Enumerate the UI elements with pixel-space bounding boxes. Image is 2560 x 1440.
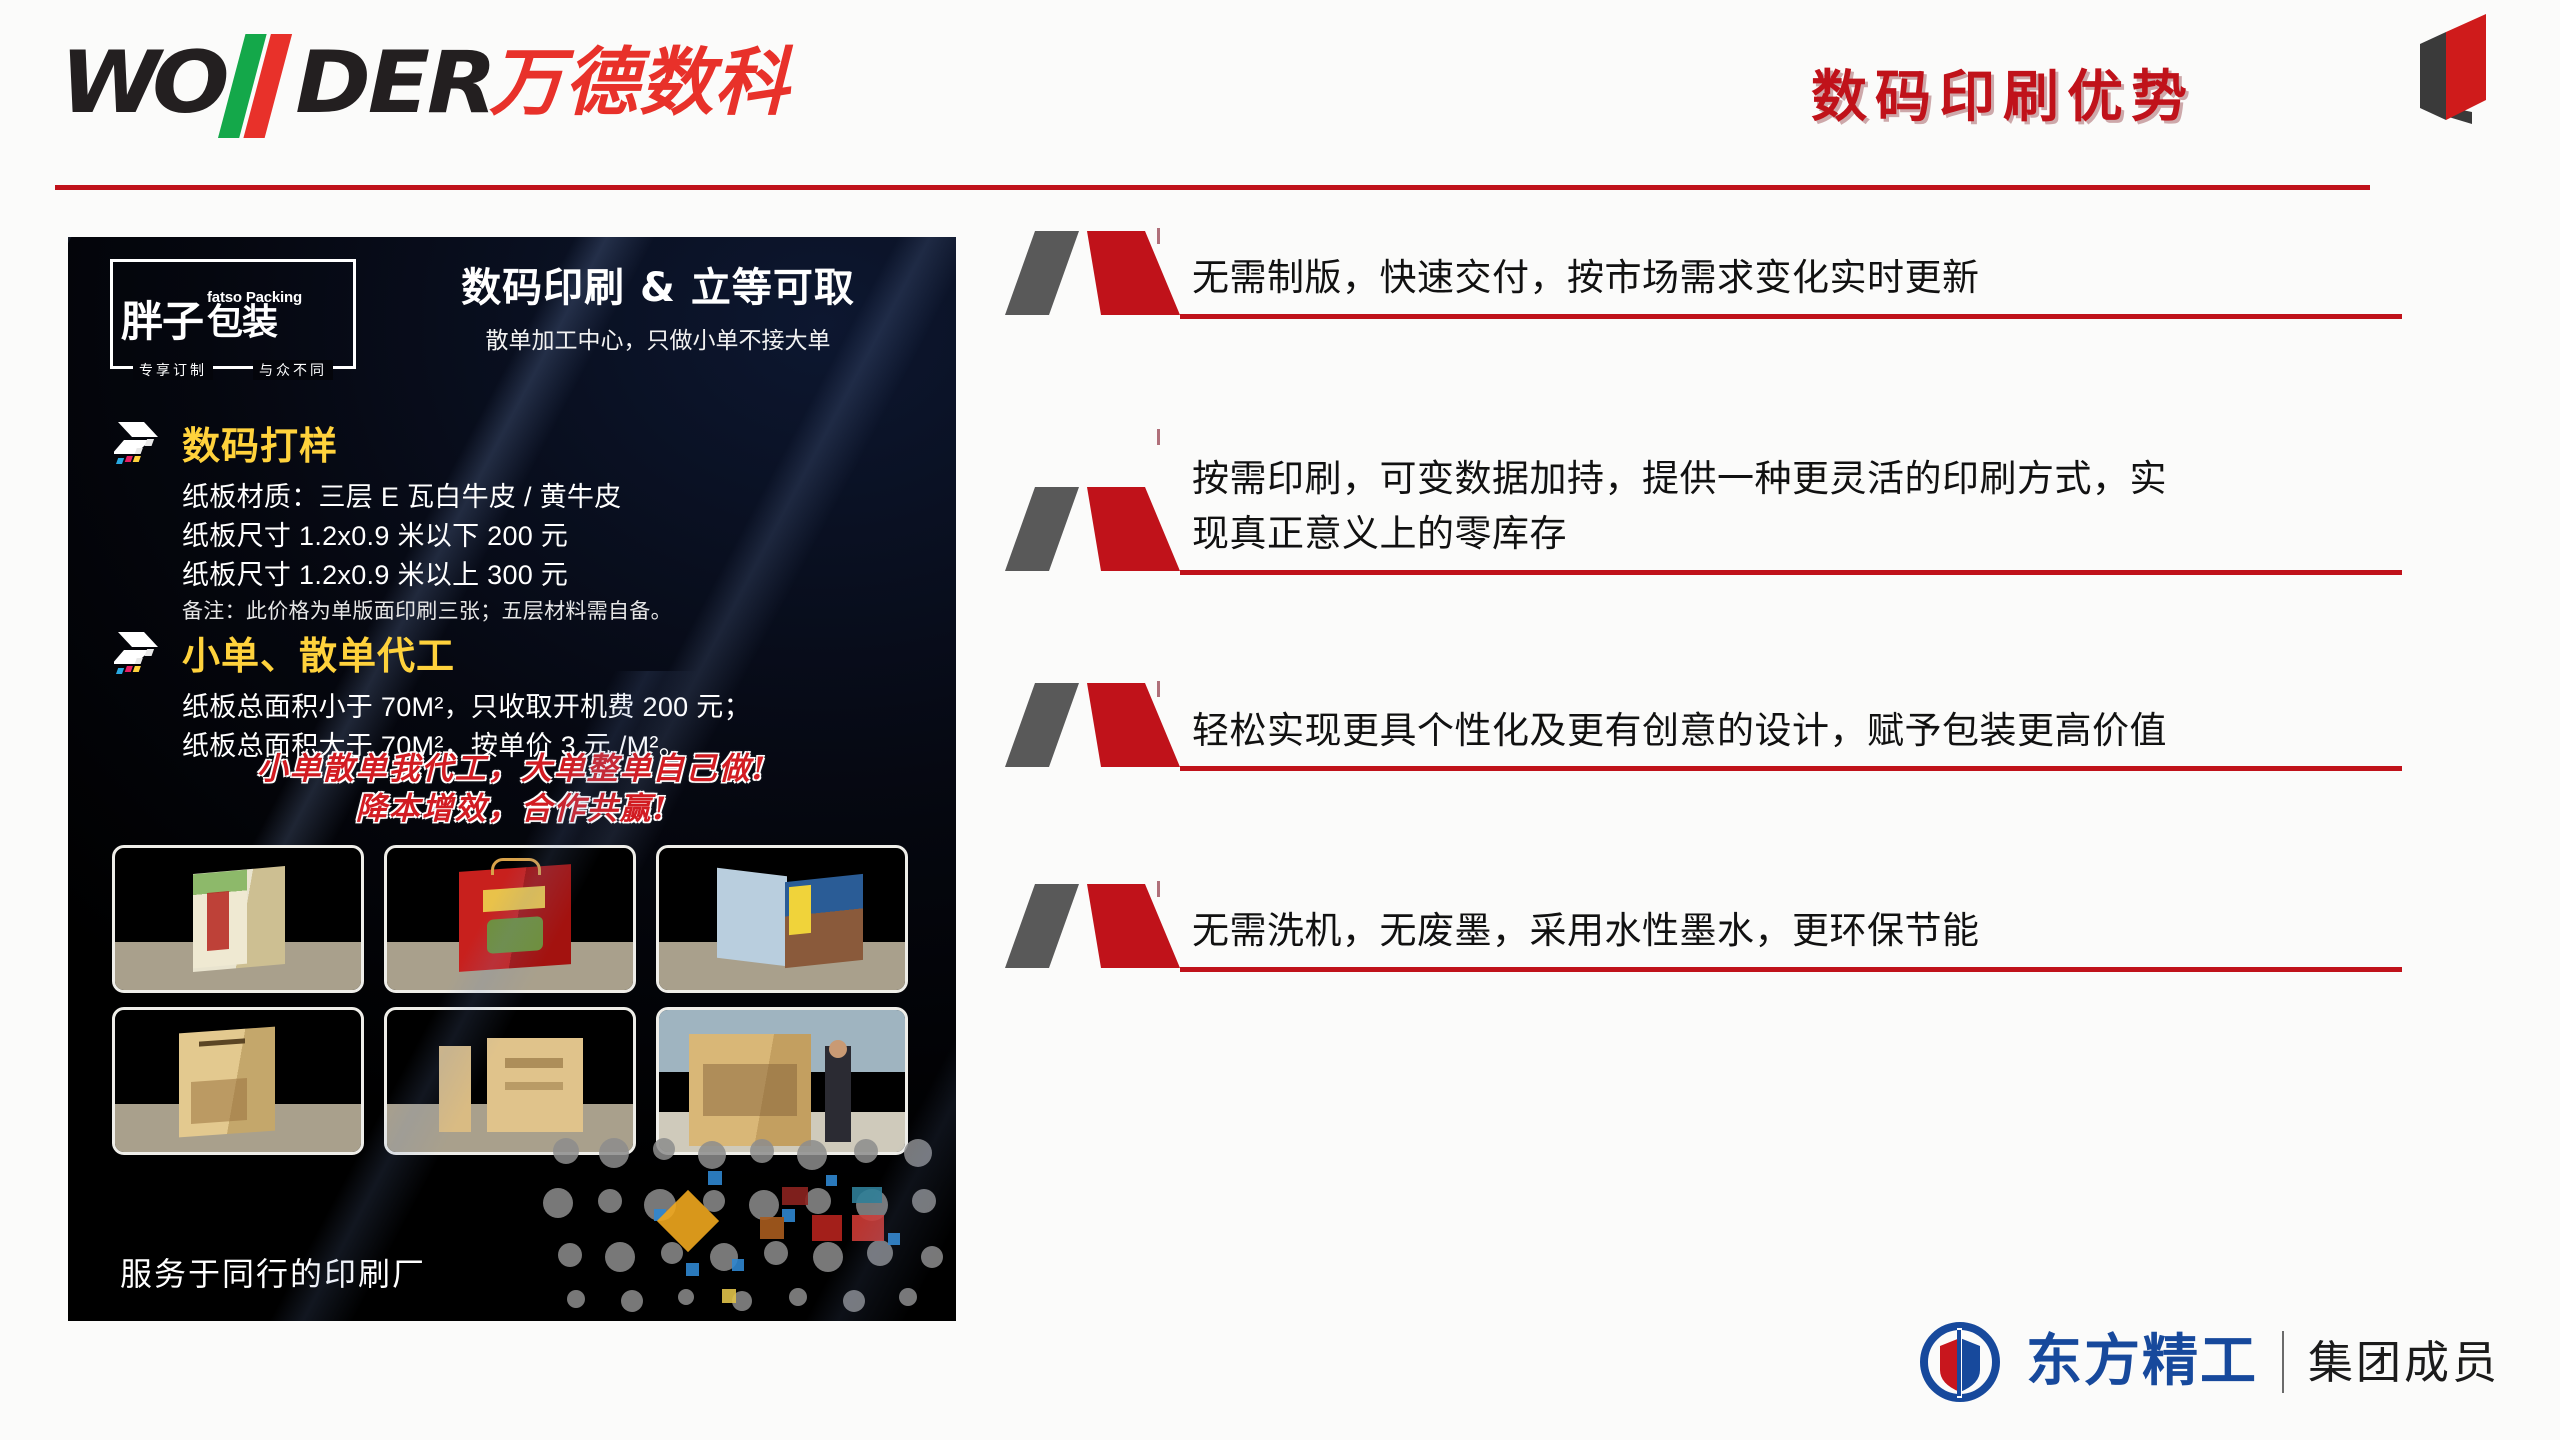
advantages-list: 无需制版，快速交付，按市场需求变化实时更新 按需印刷，可变数据加持，提供一种更灵…	[1005, 250, 2505, 972]
bullet-eco-friendly-ink: 无需洗机，无废墨，采用水性墨水，更环保节能	[1005, 903, 2505, 972]
poster-section-title: 小单、散单代工	[182, 625, 455, 680]
footer-group-logo: 东方精工 集团成员	[1918, 1320, 2500, 1404]
brand-latin-head: WO	[60, 40, 221, 126]
bullet-text: 无需洗机，无废墨，采用水性墨水，更环保节能	[1192, 903, 2505, 967]
bullet-underline	[1180, 314, 2402, 319]
footer-company-name: 东方精工	[2026, 1334, 2258, 1390]
bullet-underline	[1180, 570, 2402, 575]
poster-headline: 数码印刷 & 立等可取	[398, 265, 918, 311]
poster-logo-main: 胖子	[121, 303, 203, 342]
poster-footer-text: 服务于同行的印刷厂	[120, 1249, 426, 1295]
double-slash-marker-icon	[1005, 231, 1180, 319]
poster-section-title: 数码打样	[182, 415, 338, 470]
poster-gallery	[112, 845, 912, 1155]
brand-chinese-wordmark: 万德数科	[489, 46, 789, 120]
chevron-arrow-icon	[114, 420, 168, 466]
gallery-item	[384, 845, 636, 993]
bullet-text: 按需印刷，可变数据加持，提供一种更灵活的印刷方式，实 现真正意义上的零库存	[1192, 451, 2505, 570]
gallery-item	[112, 1007, 364, 1155]
brand-logo: WO DER 万德数科	[60, 28, 789, 138]
footer-member-label: 集团成员	[2308, 1340, 2500, 1385]
header-divider	[55, 185, 2370, 190]
bullet-line: 轻松实现更具个性化及更有创意的设计，赋予包装更高价值	[1192, 703, 2505, 759]
bullet-tick-mark	[1157, 429, 1160, 445]
poster-section-line: 纸板材质：三层 E 瓦白牛皮 / 黄牛皮	[182, 478, 934, 517]
footer-divider	[2282, 1331, 2284, 1393]
double-slash-marker-icon	[1005, 884, 1180, 972]
bullet-line: 按需印刷，可变数据加持，提供一种更灵活的印刷方式，实	[1192, 451, 2505, 507]
poster-slogan-line: 小单散单我代工，大单整单自己做!	[68, 749, 956, 789]
gallery-item	[656, 845, 908, 993]
bullet-line: 无需洗机，无废墨，采用水性墨水，更环保节能	[1192, 903, 2505, 959]
poster-section-proofing: 数码打样 纸板材质：三层 E 瓦白牛皮 / 黄牛皮 纸板尺寸 1.2x0.9 米…	[114, 415, 934, 628]
poster-headline-block: 数码印刷 & 立等可取 散单加工中心，只做小单不接大单	[398, 265, 918, 355]
poster-subheadline: 散单加工中心，只做小单不接大单	[398, 321, 918, 355]
gallery-item	[112, 845, 364, 993]
dongfang-emblem-icon	[1918, 1320, 2002, 1404]
bullet-underline	[1180, 766, 2402, 771]
bullet-on-demand-printing: 按需印刷，可变数据加持，提供一种更灵活的印刷方式，实 现真正意义上的零库存	[1005, 451, 2505, 575]
poster-slogan: 小单散单我代工，大单整单自己做! 降本增效，合作共赢!	[68, 749, 956, 830]
bullet-text: 轻松实现更具个性化及更有创意的设计，赋予包装更高价值	[1192, 703, 2505, 767]
poster-section-body: 纸板材质：三层 E 瓦白牛皮 / 黄牛皮 纸板尺寸 1.2x0.9 米以下 20…	[182, 478, 934, 628]
double-slash-marker-icon	[1005, 683, 1180, 771]
brand-latin-tail: DER	[295, 40, 494, 126]
poster-section-line: 纸板尺寸 1.2x0.9 米以下 200 元	[182, 517, 934, 556]
poster-logo-sub: 包装	[207, 306, 302, 340]
book-icon	[2402, 8, 2498, 128]
brand-latin-wordmark: WO DER	[60, 40, 494, 126]
poster-logo-tag-right: 与众不同	[253, 360, 333, 380]
brand-letter-n-icon	[221, 40, 295, 126]
promo-poster: 胖子 fatso Packing 包装 专享订制 与众不同 数码印刷 & 立等可…	[68, 237, 956, 1321]
poster-section-note: 备注：此价格为单版面印刷三张；五层材料需自备。	[182, 597, 934, 627]
bullet-line: 无需制版，快速交付，按市场需求变化实时更新	[1192, 250, 2505, 306]
poster-section-small-orders: 小单、散单代工 纸板总面积小于 70M²，只收取开机费 200 元； 纸板总面积…	[114, 625, 934, 766]
bullet-no-plate-making: 无需制版，快速交付，按市场需求变化实时更新	[1005, 250, 2505, 319]
bullet-text: 无需制版，快速交付，按市场需求变化实时更新	[1192, 250, 2505, 314]
chevron-arrow-icon	[114, 630, 168, 676]
bullet-personalized-design: 轻松实现更具个性化及更有创意的设计，赋予包装更高价值	[1005, 703, 2505, 772]
poster-section-line: 纸板尺寸 1.2x0.9 米以上 300 元	[182, 556, 934, 595]
bullet-underline	[1180, 967, 2402, 972]
slide-root: WO DER 万德数科 数码印刷优势 胖子 fatso Packing 包装	[0, 0, 2560, 1440]
poster-logo: 胖子 fatso Packing 包装 专享订制 与众不同	[110, 259, 356, 369]
poster-dot-pattern	[536, 1131, 956, 1321]
poster-logo-tag-left: 专享订制	[133, 360, 213, 380]
double-slash-marker-icon	[1005, 487, 1180, 575]
bullet-line: 现真正意义上的零库存	[1192, 506, 2505, 562]
poster-section-line: 纸板总面积小于 70M²，只收取开机费 200 元；	[182, 688, 934, 727]
page-title: 数码印刷优势	[1811, 52, 2195, 133]
poster-slogan-line: 降本增效，合作共赢!	[68, 789, 956, 829]
